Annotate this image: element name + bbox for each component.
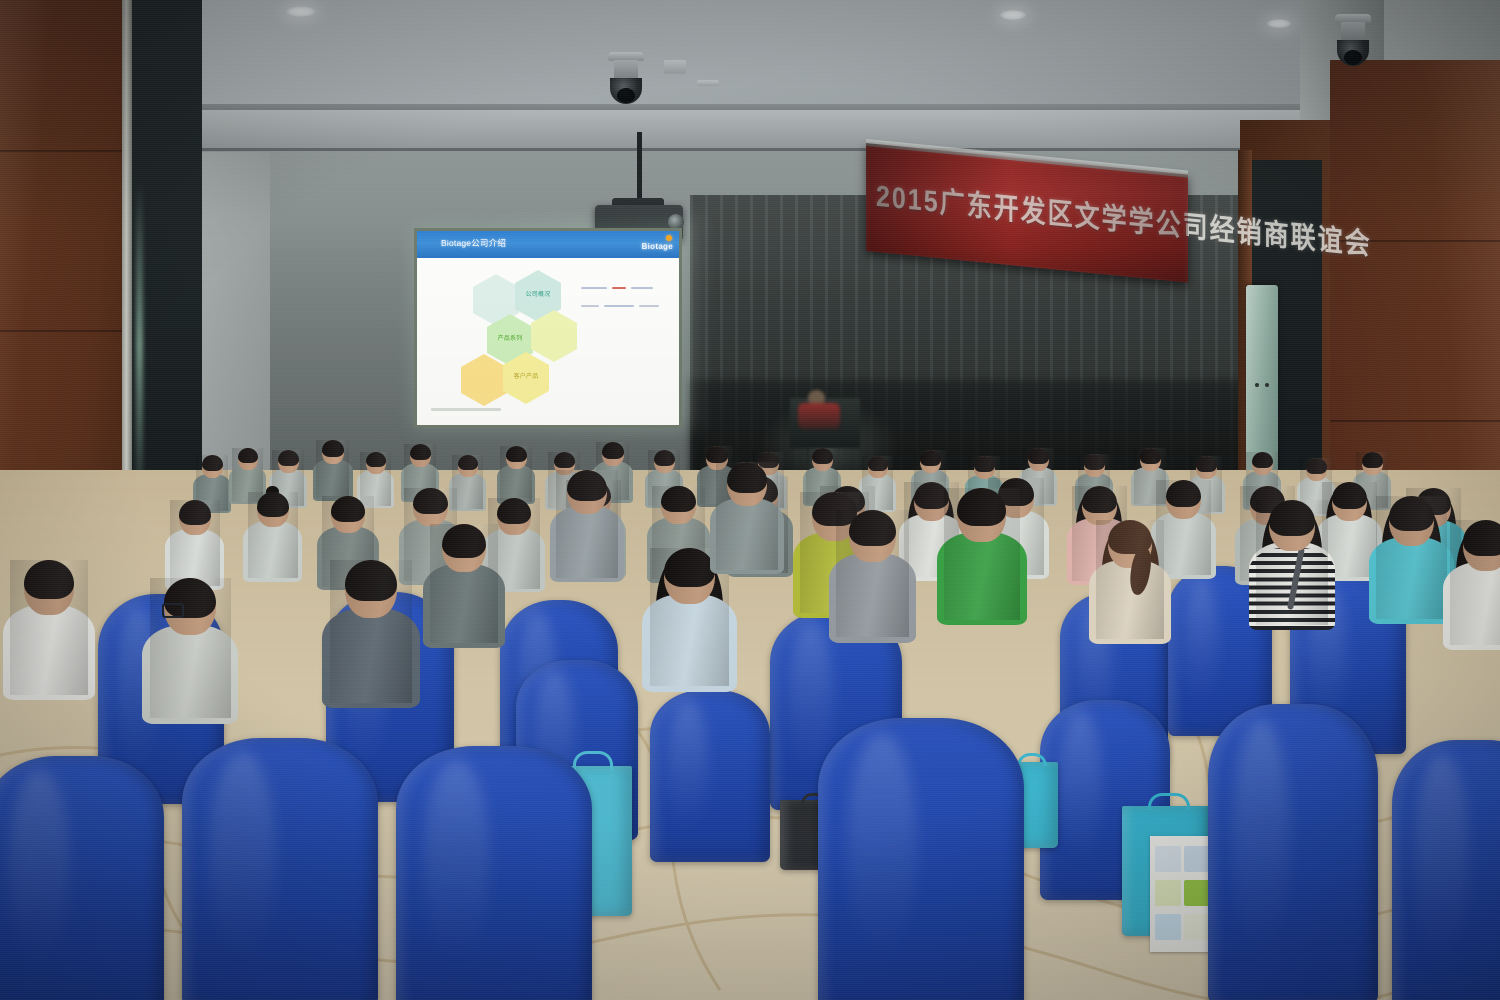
torso [142,625,238,724]
chair-cover[interactable] [818,718,1024,1000]
chair-cover[interactable] [182,738,378,1000]
hair [1140,448,1161,464]
slide-hexagon-4 [461,354,507,406]
hair [345,560,398,601]
chair-highlight [1414,753,1468,962]
audience-member [500,446,532,502]
conference-flyer[interactable] [1150,836,1214,952]
hair [1463,520,1500,556]
hair [506,446,527,462]
audience-member [556,470,618,578]
hair [24,560,74,599]
audience-member [248,492,298,578]
dome-camera-right [1331,14,1375,76]
hair [849,510,896,546]
hair [1389,496,1435,531]
audience-member [330,560,412,703]
audience-member [170,500,220,586]
torso [243,521,302,582]
conference-hall-photo: Biotage公司介绍 Biotage 公司概况产品系列客户产品 2015广东开… [0,0,1500,1000]
ceiling-downlight [1000,10,1026,20]
torso [550,506,624,582]
flyer-block [1184,880,1210,906]
slide-side-notes [581,280,673,316]
audience-member [10,560,88,695]
hair [554,452,575,468]
torso [710,498,784,574]
hair [1084,454,1105,470]
hair [238,448,258,463]
hair [727,462,767,493]
hair [661,486,695,512]
audience-member [944,488,1020,620]
chair-highlight [667,699,708,833]
hair [654,450,675,466]
hair [202,455,223,471]
slide-note-line [581,287,607,290]
hair [458,455,478,470]
hair [920,450,941,466]
ceiling [0,0,1500,120]
audience-member [430,524,498,643]
eyeglasses-icon [162,603,185,617]
hair [442,524,486,558]
flyer-block [1155,846,1181,872]
hair [322,440,344,457]
torso [423,564,504,648]
hair [706,446,728,463]
bag-handle [1017,753,1046,765]
hair [664,548,715,587]
ceiling-vent-1 [697,80,719,86]
hair [410,444,431,460]
hair [413,488,447,514]
hair [812,448,833,464]
hair [331,496,365,522]
chair-highlight [847,733,917,959]
ceiling-soffit [120,110,1380,152]
torso [642,594,737,692]
torso [1369,537,1453,624]
hair [179,500,211,525]
torso [322,608,420,709]
flyer-block [1155,914,1181,940]
hair [974,456,995,472]
audience-member [836,510,909,637]
slide-body: 公司概况产品系列客户产品 [417,258,679,425]
torso [313,459,353,500]
chair-cover[interactable] [650,690,770,862]
slide-note-line [612,287,626,290]
chair-highlight [1232,719,1290,953]
chair-cover[interactable] [0,756,164,1000]
hair [497,498,531,524]
chair-highlight [9,769,70,967]
chair-highlight [209,751,276,960]
hair [1196,456,1217,472]
ceiling-downlight [286,6,316,17]
camera-lens-icon [617,88,635,103]
audience-member [150,578,231,718]
bag-handle [573,751,613,771]
chair-highlight [788,620,833,776]
torso [937,532,1027,625]
hair [1269,500,1315,536]
slide-footer-rule [431,408,501,411]
hair [1082,486,1117,513]
camera-lens-icon [1344,50,1362,65]
projection-screen: Biotage公司介绍 Biotage 公司概况产品系列客户产品 [417,231,679,425]
dome-camera-left [604,52,648,114]
presenter-body [798,403,840,429]
slide-note-line [639,305,659,308]
chair-highlight [1058,710,1102,866]
slide-note-line [604,305,634,308]
flyer-block [1184,914,1210,940]
hair [278,450,299,466]
flyer-block [1184,846,1210,872]
audience-member [1096,520,1164,639]
ceiling-downlight [1267,19,1291,28]
audience-member [1376,496,1447,619]
biotage-logo: Biotage [642,242,673,251]
hair [957,488,1006,526]
chair-cover[interactable] [1392,740,1500,1000]
audience-member [716,462,778,570]
hair [1252,452,1273,468]
biotage-logo-dot-icon [666,235,672,241]
flyer-block [1155,880,1181,906]
hair [602,442,624,459]
hair [868,456,888,471]
hair [1332,482,1367,509]
doorway-light-strip [136,180,143,510]
hair [1166,480,1201,507]
slide-note-line [631,287,653,290]
presenter [798,390,840,428]
hair [366,452,386,467]
hair [567,470,607,501]
hair-bun [266,486,279,497]
hair [1028,448,1049,464]
chair-cover[interactable] [1208,704,1378,1000]
audience-member [1450,520,1500,645]
slide-title: Biotage公司介绍 [441,237,506,249]
camera-neck [1341,22,1365,42]
hair [1306,458,1327,474]
slide-note-line [581,305,599,308]
torso [1443,562,1500,651]
bag-handle [1148,793,1189,810]
audience-member [1256,500,1328,625]
torso [829,553,916,643]
chair-cover[interactable] [396,746,592,1000]
chair-highlight [1183,575,1218,708]
camera-neck [614,60,638,80]
hair [1362,452,1383,468]
audience-member [316,440,349,498]
chair-highlight [423,759,490,963]
slide-header-bar: Biotage公司介绍 Biotage [417,231,679,258]
torso [3,605,96,700]
ceiling-vent-0 [664,60,686,74]
